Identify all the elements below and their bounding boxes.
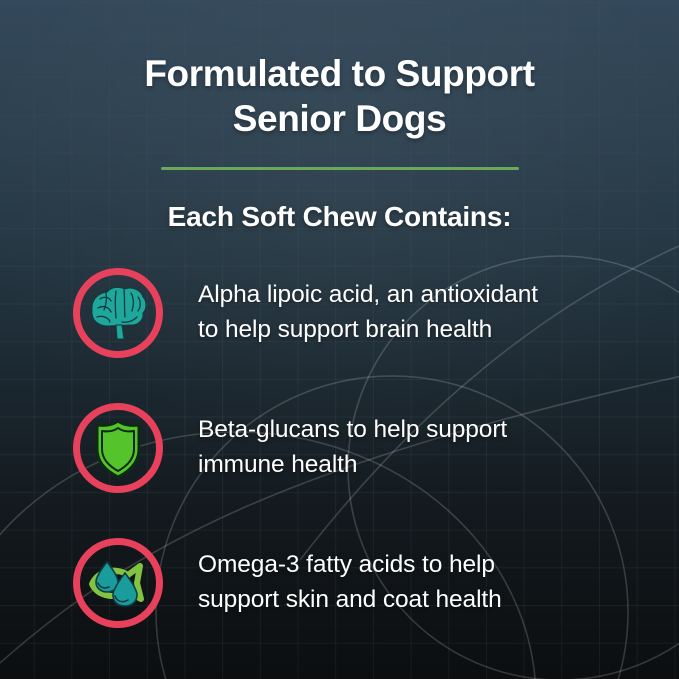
- benefit-text-line-2: immune health: [198, 451, 357, 478]
- benefit-item: Beta-glucans to help support immune heal…: [0, 399, 679, 497]
- header: Formulated to Support Senior Dogs Each S…: [0, 52, 679, 233]
- shield-icon: [97, 421, 139, 477]
- benefits-list: Alpha lipoic acid, an antioxidant to hel…: [0, 264, 679, 669]
- benefit-text-line-1: Alpha lipoic acid, an antioxidant: [198, 281, 538, 308]
- brain-icon: [92, 287, 146, 339]
- shield-icon-badge: [72, 402, 164, 494]
- benefit-text-line-2: to help support brain health: [198, 316, 492, 343]
- subheading: Each Soft Chew Contains:: [0, 170, 679, 233]
- benefit-item: Omega-3 fatty acids to help support skin…: [0, 534, 679, 632]
- page-title-line-2: Senior Dogs: [233, 98, 447, 139]
- brain-icon-badge: [72, 267, 164, 359]
- benefit-item: Alpha lipoic acid, an antioxidant to hel…: [0, 264, 679, 362]
- benefit-text-line-1: Omega-3 fatty acids to help: [198, 551, 495, 578]
- page-title: Formulated to Support Senior Dogs: [0, 52, 679, 142]
- infographic-panel: Formulated to Support Senior Dogs Each S…: [0, 0, 679, 679]
- title-divider: [161, 167, 519, 170]
- benefit-text: Alpha lipoic acid, an antioxidant to hel…: [198, 278, 538, 348]
- benefit-text: Omega-3 fatty acids to help support skin…: [198, 548, 502, 618]
- benefit-text: Beta-glucans to help support immune heal…: [198, 413, 507, 483]
- omega-fish-droplets-icon-badge: [72, 537, 164, 629]
- benefit-text-line-1: Beta-glucans to help support: [198, 416, 507, 443]
- page-title-line-1: Formulated to Support: [144, 53, 534, 94]
- benefit-text-line-2: support skin and coat health: [198, 586, 502, 613]
- omega-fish-droplets-icon: [92, 562, 141, 606]
